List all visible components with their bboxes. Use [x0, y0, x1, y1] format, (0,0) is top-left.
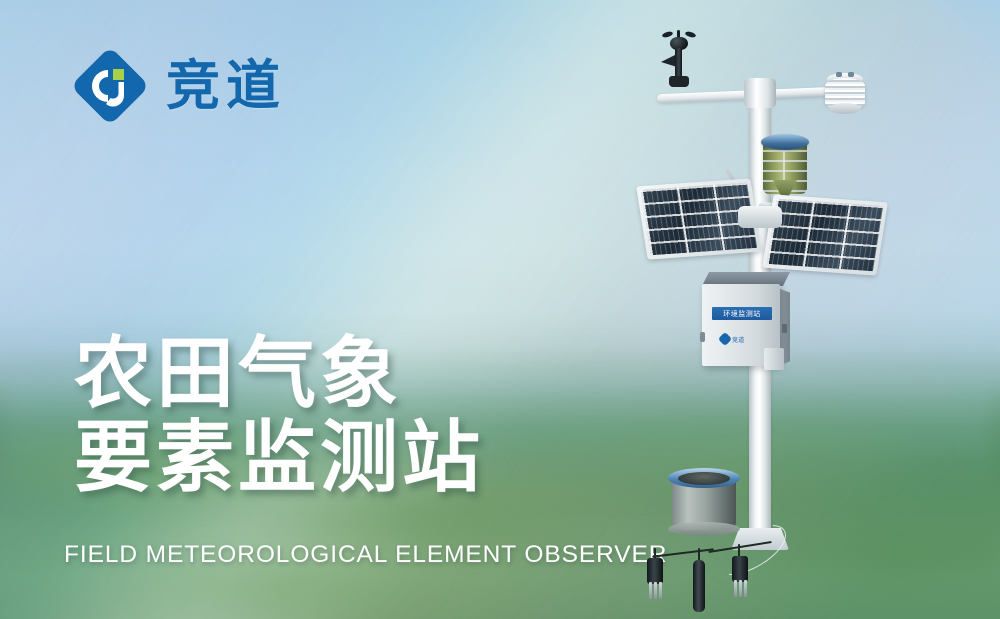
control-cabinet-icon: 环境监测站 竞道: [702, 272, 790, 368]
gauge-opening: [678, 472, 730, 485]
soil-probe-1: [647, 558, 663, 584]
headline-line-2: 要素监测站: [74, 416, 484, 500]
anemometer-base: [669, 76, 689, 87]
headline-subtitle: FIELD METEOROLOGICAL ELEMENT OBSERVER: [64, 541, 667, 569]
soil-prong-1a: [649, 582, 652, 599]
soil-wire-1: [652, 548, 714, 557]
soil-prong-3b: [739, 580, 742, 597]
shield-bolt-right: [848, 72, 854, 77]
shield-bottom-cap: [829, 103, 861, 114]
cabinet-latch: [700, 332, 705, 342]
soil-wire-2: [708, 541, 771, 552]
soil-prong-3c: [744, 580, 747, 597]
cabinet-brand-text: 竞道: [732, 335, 745, 344]
cylinder-top-cap: [761, 134, 809, 150]
anemometer-icon: [660, 28, 698, 94]
soil-probe-2: [693, 560, 705, 612]
cabinet-label: 环境监测站: [712, 307, 772, 320]
gauge-foot: [668, 522, 740, 536]
cross-arm-hub: [744, 78, 776, 108]
soil-prong-1c: [659, 582, 662, 599]
weather-station-illustration: 环境监测站 竞道: [620, 16, 940, 606]
panel-mount-bracket: [738, 206, 782, 228]
panel-frame-right: [762, 194, 888, 275]
poster-stage: 竞道 农田气象 要素监测站 FIELD METEOROLOGICAL ELEME…: [0, 0, 1000, 619]
brand-name: 竞道: [166, 59, 286, 113]
cabinet-brand-icon: [718, 332, 732, 346]
page-title: 农田气象 要素监测站: [74, 332, 484, 500]
shield-bolt-left: [836, 72, 842, 77]
panel-cells-right: [767, 199, 883, 272]
cylinder-sensor-icon: [763, 130, 807, 200]
cabinet-lower-box: [764, 348, 784, 370]
soil-prong-3a: [734, 580, 737, 597]
cabinet-label-text: 环境监测站: [723, 309, 761, 319]
radiation-shield-icon: [823, 70, 867, 116]
rain-gauge-icon: [668, 464, 742, 540]
anemometer-cup-left: [662, 31, 674, 39]
cabinet-brand: 竞道: [720, 334, 745, 344]
anemometer-cup-right: [685, 31, 697, 39]
cabinet-vent: [782, 324, 787, 333]
jingdao-diamond-logo-icon: [72, 48, 148, 124]
brand-logo: 竞道: [72, 48, 286, 124]
headline-line-1: 农田气象: [74, 332, 484, 416]
soil-prong-1b: [654, 582, 657, 599]
soil-probe-icon: [638, 540, 778, 610]
soil-probe-3: [732, 556, 748, 582]
solar-panel-icon-right: [762, 194, 888, 275]
